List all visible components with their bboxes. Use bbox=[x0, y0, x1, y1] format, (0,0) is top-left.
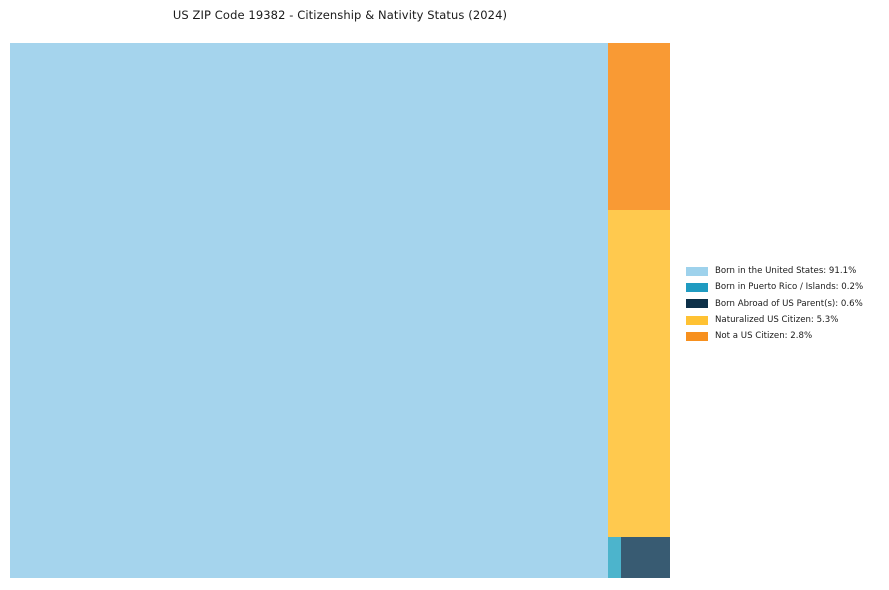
legend-item[interactable]: Born in the United States: 91.1% bbox=[686, 263, 882, 279]
treemap-figure: US ZIP Code 19382 - Citizenship & Nativi… bbox=[0, 0, 889, 590]
treemap-tile[interactable] bbox=[10, 43, 608, 578]
treemap-tile[interactable] bbox=[608, 210, 670, 537]
legend-item[interactable]: Born Abroad of US Parent(s): 0.6% bbox=[686, 296, 882, 312]
legend-swatch-icon bbox=[686, 267, 708, 276]
legend-swatch-icon bbox=[686, 316, 708, 325]
legend-item-label: Born Abroad of US Parent(s): 0.6% bbox=[715, 299, 863, 309]
legend-swatch-icon bbox=[686, 332, 708, 341]
treemap-tile[interactable] bbox=[608, 43, 670, 210]
legend-swatch-icon bbox=[686, 299, 708, 308]
legend-item[interactable]: Naturalized US Citizen: 5.3% bbox=[686, 312, 882, 328]
treemap-tile[interactable] bbox=[608, 537, 621, 578]
legend-item-label: Born in the United States: 91.1% bbox=[715, 266, 856, 276]
treemap-plot-area bbox=[10, 43, 670, 578]
legend-item-label: Born in Puerto Rico / Islands: 0.2% bbox=[715, 282, 863, 292]
treemap-tile[interactable] bbox=[621, 537, 670, 578]
chart-title: US ZIP Code 19382 - Citizenship & Nativi… bbox=[10, 8, 670, 22]
legend-item-label: Not a US Citizen: 2.8% bbox=[715, 331, 812, 341]
legend-item[interactable]: Born in Puerto Rico / Islands: 0.2% bbox=[686, 279, 882, 295]
legend-swatch-icon bbox=[686, 283, 708, 292]
legend-item-label: Naturalized US Citizen: 5.3% bbox=[715, 315, 838, 325]
legend-item[interactable]: Not a US Citizen: 2.8% bbox=[686, 328, 882, 344]
chart-legend: Born in the United States: 91.1%Born in … bbox=[686, 263, 882, 344]
